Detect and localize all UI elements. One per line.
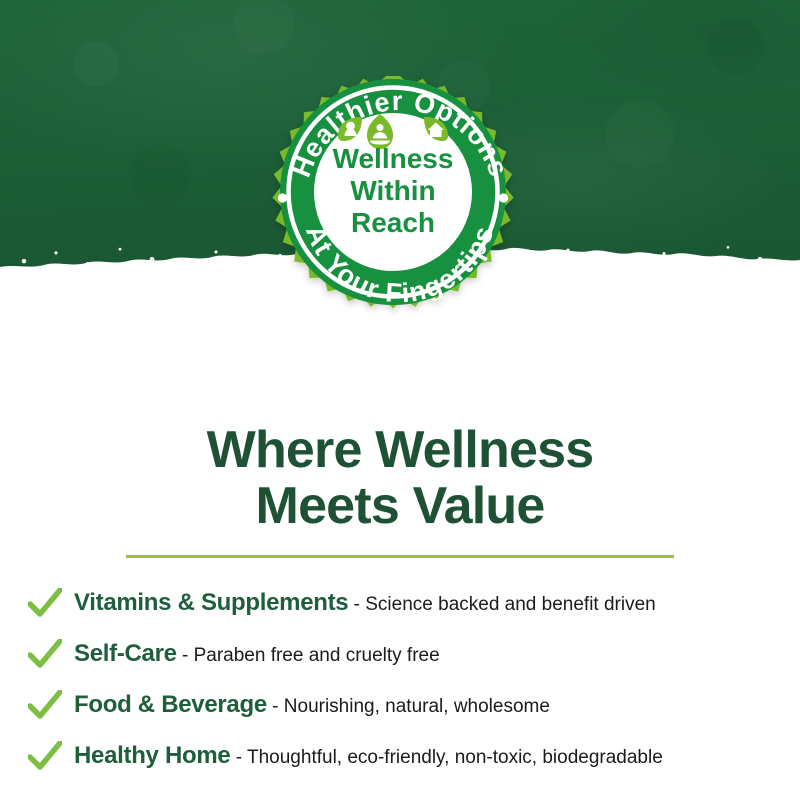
seal-dot-left bbox=[278, 193, 287, 202]
page-title: Where Wellness Meets Value bbox=[0, 422, 800, 534]
headline-line-2: Meets Value bbox=[0, 478, 800, 534]
benefit-text: Vitamins & Supplements - Science backed … bbox=[74, 589, 656, 617]
checkmark-icon bbox=[26, 639, 74, 669]
benefit-text: Self-Care - Paraben free and cruelty fre… bbox=[74, 640, 440, 668]
seal-dot-right bbox=[499, 193, 508, 202]
benefit-description: Thoughtful, eco-friendly, non-toxic, bio… bbox=[247, 747, 663, 768]
benefit-text: Healthy Home - Thoughtful, eco-friendly,… bbox=[74, 742, 663, 770]
headline-line-1: Where Wellness bbox=[207, 421, 594, 479]
benefit-description: Nourishing, natural, wholesome bbox=[284, 696, 550, 717]
benefit-category: Healthy Home bbox=[74, 742, 230, 769]
benefit-text: Food & Beverage - Nourishing, natural, w… bbox=[74, 691, 550, 719]
wellness-seal-badge: Healthier Options At Your Fingertips bbox=[267, 76, 533, 334]
benefit-description: Science backed and benefit driven bbox=[365, 594, 655, 615]
list-item: Self-Care - Paraben free and cruelty fre… bbox=[26, 628, 786, 679]
list-item: Food & Beverage - Nourishing, natural, w… bbox=[26, 679, 786, 730]
benefit-dash: - bbox=[348, 594, 365, 615]
checkmark-icon bbox=[26, 690, 74, 720]
seal-center-line-2: Within bbox=[350, 175, 435, 206]
promo-banner: Healthier Options At Your Fingertips bbox=[0, 0, 800, 800]
list-item: Healthy Home - Thoughtful, eco-friendly,… bbox=[26, 730, 786, 781]
divider-rule bbox=[126, 555, 674, 558]
benefit-category: Vitamins & Supplements bbox=[74, 589, 348, 616]
checkmark-icon bbox=[26, 588, 74, 618]
checkmark-icon bbox=[26, 741, 74, 771]
seal-center-line-3: Reach bbox=[351, 207, 435, 238]
benefit-category: Food & Beverage bbox=[74, 691, 267, 718]
benefits-list: Vitamins & Supplements - Science backed … bbox=[26, 577, 786, 781]
benefit-dash: - bbox=[267, 696, 284, 717]
seal-center-line-1: Wellness bbox=[333, 143, 454, 174]
benefit-dash: - bbox=[177, 645, 194, 666]
list-item: Vitamins & Supplements - Science backed … bbox=[26, 577, 786, 628]
benefit-category: Self-Care bbox=[74, 640, 177, 667]
benefit-description: Paraben free and cruelty free bbox=[194, 645, 440, 666]
benefit-dash: - bbox=[230, 747, 247, 768]
